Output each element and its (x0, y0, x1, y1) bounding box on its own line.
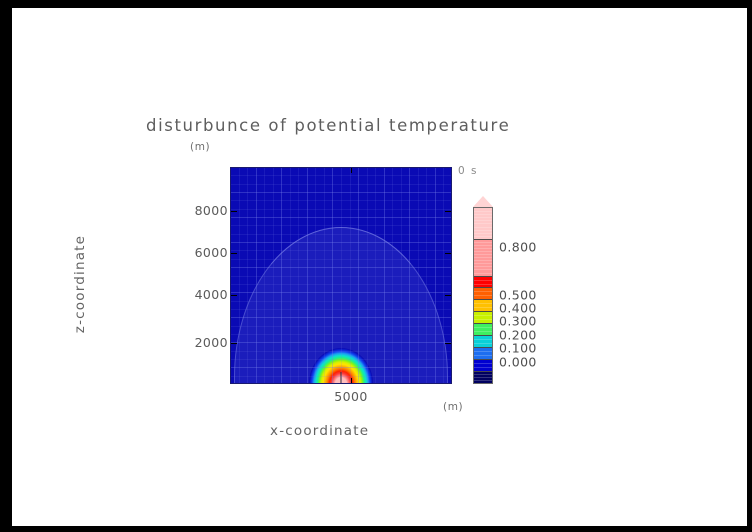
grid-line-horizontal (230, 376, 452, 377)
grid-line-horizontal (230, 234, 452, 235)
y-tick-mark (230, 253, 237, 254)
colorbar-top-arrow-icon (473, 196, 493, 207)
colorbar-separator (474, 359, 492, 360)
y-tick-label: 6000 (176, 245, 228, 260)
colorbar-stripe (474, 367, 492, 368)
colorbar-separator (474, 347, 492, 348)
grid-line-horizontal (230, 225, 452, 226)
y-tick-mark (445, 295, 452, 296)
outer-black-frame: disturbunce of potential temperature (m)… (0, 0, 752, 532)
grid-line-horizontal (230, 192, 452, 193)
y-tick-label: 8000 (176, 203, 228, 218)
colorbar-stripe (474, 266, 492, 267)
colorbar-stripe (474, 303, 492, 304)
x-tick-label: 5000 (334, 389, 367, 404)
colorbar-stripe (474, 269, 492, 270)
colorbar-stripe (474, 319, 492, 320)
x-axis-unit-label: (m) (443, 401, 463, 413)
colorbar-tick-label: 0.800 (499, 240, 537, 255)
grid-line-horizontal (230, 217, 452, 218)
colorbar-stripe (474, 343, 492, 344)
grid-line-horizontal (230, 342, 452, 343)
colorbar-separator (474, 287, 492, 288)
y-axis-ticks: 8000600040002000 (172, 8, 228, 526)
colorbar-separator (474, 239, 492, 240)
colorbar: 0.8000.5000.4000.3000.2000.1000.000 (465, 196, 565, 396)
colorbar-separator (474, 335, 492, 336)
time-label: 0 s (458, 165, 478, 177)
colorbar-stripe (474, 355, 492, 356)
colorbar-stripe (474, 236, 492, 237)
colorbar-stripe (474, 363, 492, 364)
colorbar-stripe (474, 230, 492, 231)
colorbar-stripe (474, 245, 492, 246)
y-tick-mark (230, 343, 237, 344)
colorbar-stripe (474, 291, 492, 292)
colorbar-stripe (474, 295, 492, 296)
colorbar-stripe (474, 217, 492, 218)
colorbar-band (474, 347, 492, 359)
figure-canvas: disturbunce of potential temperature (m)… (12, 8, 747, 526)
grid-line-horizontal (230, 359, 452, 360)
colorbar-separator (474, 299, 492, 300)
x-axis-label: x-coordinate (270, 423, 369, 439)
grid-line-horizontal (230, 276, 452, 277)
colorbar-stripe (474, 260, 492, 261)
colorbar-separator (474, 311, 492, 312)
grid-line-horizontal (230, 301, 452, 302)
colorbar-stripe (474, 211, 492, 212)
colorbar-stripe (474, 233, 492, 234)
colorbar-band (474, 323, 492, 335)
colorbar-stripe (474, 227, 492, 228)
colorbar-band (474, 335, 492, 347)
grid-line-horizontal (230, 334, 452, 335)
colorbar-band (474, 311, 492, 323)
grid-line-horizontal (230, 351, 452, 352)
y-axis-label: z-coordinate (72, 194, 88, 374)
grid-line-horizontal (230, 200, 452, 201)
y-tick-mark (445, 343, 452, 344)
colorbar-stripe (474, 242, 492, 243)
grid-line-horizontal (230, 267, 452, 268)
grid-line-horizontal (230, 317, 452, 318)
grid-line-horizontal (230, 326, 452, 327)
colorbar-stripe (474, 263, 492, 264)
colorbar-separator (474, 371, 492, 372)
colorbar-stripe (474, 214, 492, 215)
colorbar-stripe (474, 374, 492, 375)
colorbar-band (474, 299, 492, 311)
grid-line-horizontal (230, 242, 452, 243)
y-tick-mark (445, 253, 452, 254)
colorbar-stripe (474, 351, 492, 352)
colorbar-stripe (474, 380, 492, 381)
y-tick-mark (230, 295, 237, 296)
grid-line-horizontal (230, 250, 452, 251)
colorbar-stripe (474, 273, 492, 274)
colorbar-stripe (474, 248, 492, 249)
grid-line-horizontal (230, 175, 452, 176)
colorbar-stripe (474, 307, 492, 308)
colorbar-stripe (474, 315, 492, 316)
colorbar-tick-label: 0.100 (499, 341, 537, 356)
colorbar-stripe (474, 257, 492, 258)
contour-plot-area (230, 167, 452, 384)
y-tick-mark (230, 211, 237, 212)
x-tick-mark (351, 378, 352, 384)
colorbar-stripe (474, 339, 492, 340)
colorbar-tick-label: 0.000 (499, 355, 537, 370)
colorbar-stripe (474, 327, 492, 328)
colorbar-stripe (474, 377, 492, 378)
grid-line-horizontal (230, 259, 452, 260)
colorbar-stripe (474, 284, 492, 285)
colorbar-band (474, 276, 492, 288)
y-tick-mark (445, 211, 452, 212)
grid-line-horizontal (230, 367, 452, 368)
y-tick-label: 2000 (176, 335, 228, 350)
colorbar-stripe (474, 254, 492, 255)
grid-line-horizontal (230, 184, 452, 185)
colorbar-stripe (474, 331, 492, 332)
colorbar-separator (474, 276, 492, 277)
grid-line-horizontal (230, 309, 452, 310)
colorbar-separator (474, 323, 492, 324)
colorbar-bar (473, 207, 493, 384)
y-tick-label: 4000 (176, 287, 228, 302)
colorbar-stripe (474, 220, 492, 221)
grid-line-horizontal (230, 292, 452, 293)
colorbar-band (474, 359, 492, 371)
grid-line-horizontal (230, 209, 452, 210)
colorbar-stripe (474, 280, 492, 281)
x-tick-mark (351, 167, 352, 173)
grid-line-horizontal (230, 284, 452, 285)
colorbar-stripe (474, 251, 492, 252)
colorbar-tick-label: 0.300 (499, 314, 537, 329)
colorbar-band (474, 287, 492, 299)
colorbar-stripe (474, 223, 492, 224)
